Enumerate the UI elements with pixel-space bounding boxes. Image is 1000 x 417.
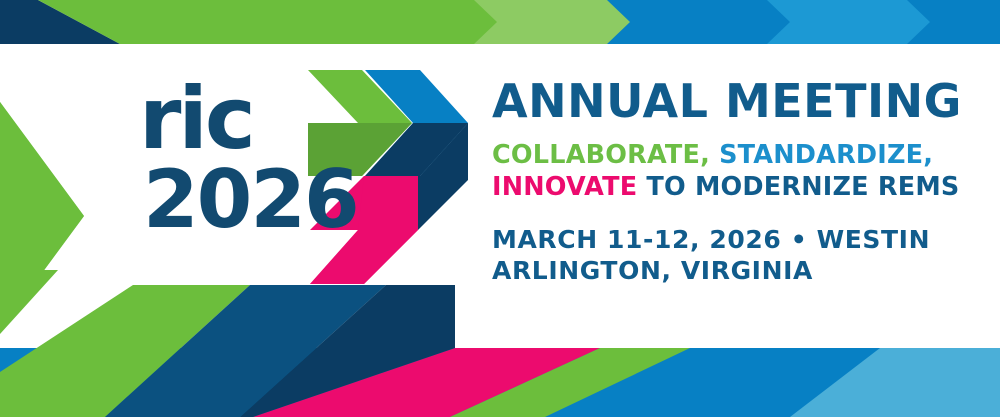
tagline-line-2: INNOVATE TO MODERNIZE REMS (492, 173, 972, 203)
tagline-collaborate: COLLABORATE, (492, 140, 710, 170)
event-banner: ric 2026 ANNUAL MEETING COLLABORATE, STA… (0, 0, 1000, 417)
banner-content: ric 2026 ANNUAL MEETING COLLABORATE, STA… (0, 0, 1000, 417)
tagline-standardize: STANDARDIZE, (719, 140, 933, 170)
page-title: ANNUAL MEETING (492, 78, 972, 124)
logo-wordmark-year: 2026 (143, 160, 358, 240)
tagline-line-1: COLLABORATE, STANDARDIZE, (492, 141, 972, 171)
event-location: ARLINGTON, VIRGINIA (492, 256, 972, 287)
tagline-modernize-rems: TO MODERNIZE REMS (646, 172, 959, 202)
ric-2026-logo: ric 2026 (135, 78, 465, 253)
event-date-venue: MARCH 11-12, 2026 • WESTIN (492, 225, 972, 256)
logo-wordmark-ric: ric (139, 76, 253, 162)
tagline-innovate: INNOVATE (492, 172, 637, 202)
banner-text-block: ANNUAL MEETING COLLABORATE, STANDARDIZE,… (492, 78, 972, 286)
